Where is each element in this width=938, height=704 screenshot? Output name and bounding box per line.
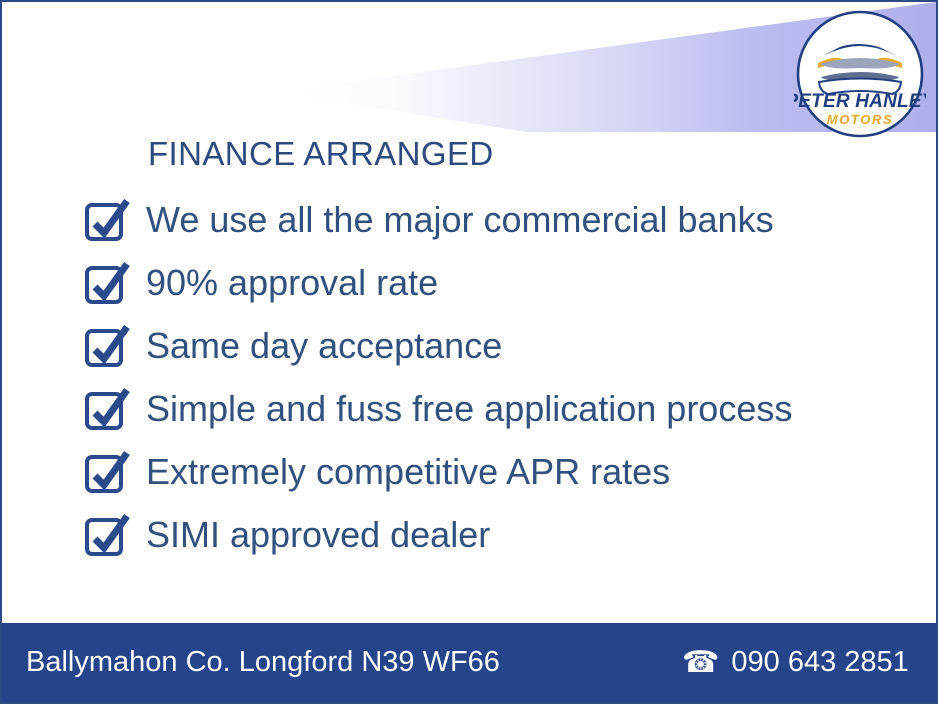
checkbox-checked-icon <box>82 510 132 560</box>
list-item: Simple and fuss free application process <box>82 377 792 440</box>
footer-phone-number: 090 643 2851 <box>731 646 908 679</box>
footer-phone[interactable]: ☎ 090 643 2851 <box>682 646 909 679</box>
list-item-label: Extremely competitive APR rates <box>146 454 670 490</box>
logo-name-top: PETER HANLEY <box>794 91 926 112</box>
list-item-label: Same day acceptance <box>146 328 502 364</box>
footer-address: Ballymahon Co. Longford N39 WF66 <box>26 646 500 679</box>
feature-list: We use all the major commercial banks 90… <box>82 188 792 566</box>
list-item-label: SIMI approved dealer <box>146 517 490 553</box>
checkbox-checked-icon <box>82 321 132 371</box>
checkbox-checked-icon <box>82 258 132 308</box>
footer-contact-bar: Ballymahon Co. Longford N39 WF66 ☎ 090 6… <box>2 623 936 702</box>
list-item: 90% approval rate <box>82 251 792 314</box>
checkbox-checked-icon <box>82 195 132 245</box>
checkbox-checked-icon <box>82 447 132 497</box>
logo-name-bottom: MOTORS <box>827 112 893 127</box>
list-item-label: We use all the major commercial banks <box>146 202 774 238</box>
list-item-label: Simple and fuss free application process <box>146 391 792 427</box>
checkbox-checked-icon <box>82 384 132 434</box>
list-item: Extremely competitive APR rates <box>82 440 792 503</box>
list-item: Same day acceptance <box>82 314 792 377</box>
list-item-label: 90% approval rate <box>146 265 438 301</box>
list-item: We use all the major commercial banks <box>82 188 792 251</box>
finance-advert-banner: PETER HANLEY MOTORS FINANCE ARRANGED We … <box>0 0 938 704</box>
page-title: FINANCE ARRANGED <box>148 135 494 173</box>
telephone-icon: ☎ <box>682 648 719 678</box>
list-item: SIMI approved dealer <box>82 503 792 566</box>
brand-logo-badge: PETER HANLEY MOTORS <box>794 8 926 140</box>
